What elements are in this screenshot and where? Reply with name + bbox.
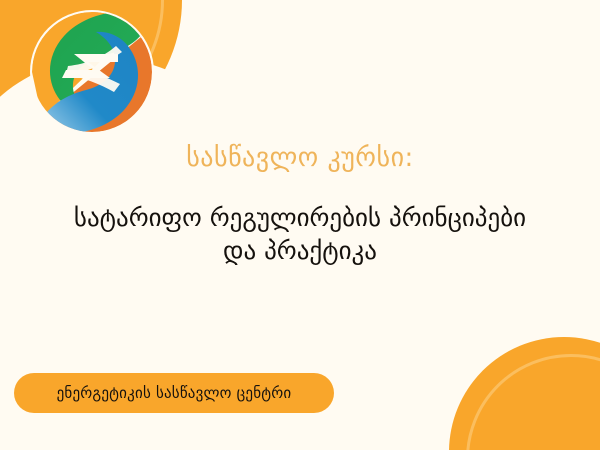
course-title-line-1: სატარიფო რეგულირების პრინციპები xyxy=(0,201,600,234)
course-label: სასწავლო კურსი: xyxy=(0,143,600,173)
energy-training-center-logo xyxy=(22,8,162,138)
organization-badge-label: ენერგეტიკის სასწავლო ცენტრი xyxy=(57,384,292,402)
presentation-slide: სასწავლო კურსი: სატარიფო რეგულირების პრი… xyxy=(0,0,600,450)
organization-badge: ენერგეტიკის სასწავლო ცენტრი xyxy=(14,373,334,413)
page-title: სატარიფო რეგულირების პრინციპები და პრაქტ… xyxy=(0,201,600,267)
course-title-line-2: და პრაქტიკა xyxy=(0,234,600,267)
